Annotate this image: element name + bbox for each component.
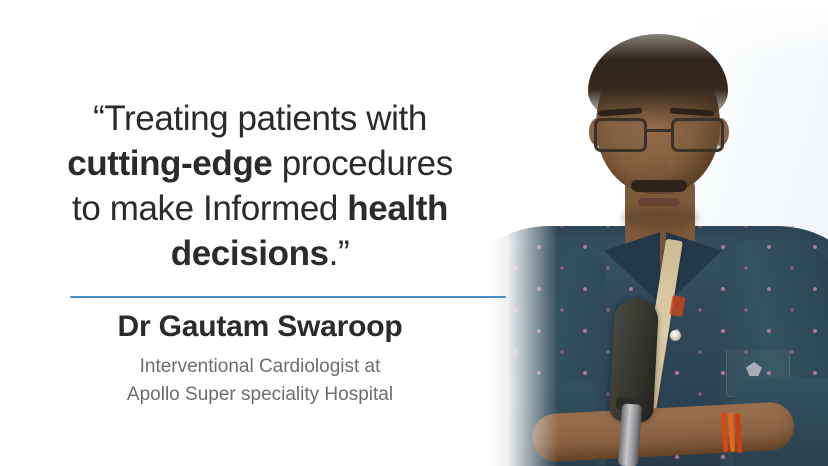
quote-line-4-text: .” <box>329 234 350 273</box>
quote-line-3-text: to make Informed <box>72 189 347 228</box>
quote-bold-decisions: decisions <box>171 234 329 273</box>
quote-line-2: cutting-edge procedures <box>18 141 502 186</box>
chin-shadow <box>622 206 698 230</box>
speaker-role-line-1: Interventional Cardiologist at <box>18 353 502 381</box>
quote-card: “Treating patients with cutting-edge pro… <box>0 0 828 466</box>
speaker-photo <box>488 0 828 466</box>
quote-text: “Treating patients with cutting-edge pro… <box>18 96 502 276</box>
lens-left <box>594 118 647 152</box>
glasses-icon <box>592 118 726 154</box>
quote-line-1-text: “Treating patients with <box>93 99 427 138</box>
text-panel: “Treating patients with cutting-edge pro… <box>0 0 520 466</box>
quote-line-2-text: procedures <box>272 144 452 183</box>
quote-line-4: decisions.” <box>18 231 502 276</box>
quote-bold-health: health <box>347 189 448 228</box>
speaker-role-line-2: Apollo Super speciality Hospital <box>18 381 502 409</box>
mustache <box>631 180 687 192</box>
lanyard-snap-upper <box>670 330 681 341</box>
mouth <box>638 198 680 206</box>
quote-bold-cutting-edge: cutting-edge <box>67 144 272 183</box>
glasses-bridge <box>647 129 671 132</box>
lens-right <box>671 118 724 152</box>
nose <box>648 152 668 178</box>
divider <box>70 296 506 298</box>
quote-line-3: to make Informed health <box>18 186 502 231</box>
microphone-handle <box>618 403 642 466</box>
speaker-name: Dr Gautam Swaroop <box>18 310 502 344</box>
quote-line-1: “Treating patients with <box>18 96 502 141</box>
speaker-role: Interventional Cardiologist at Apollo Su… <box>18 353 502 409</box>
